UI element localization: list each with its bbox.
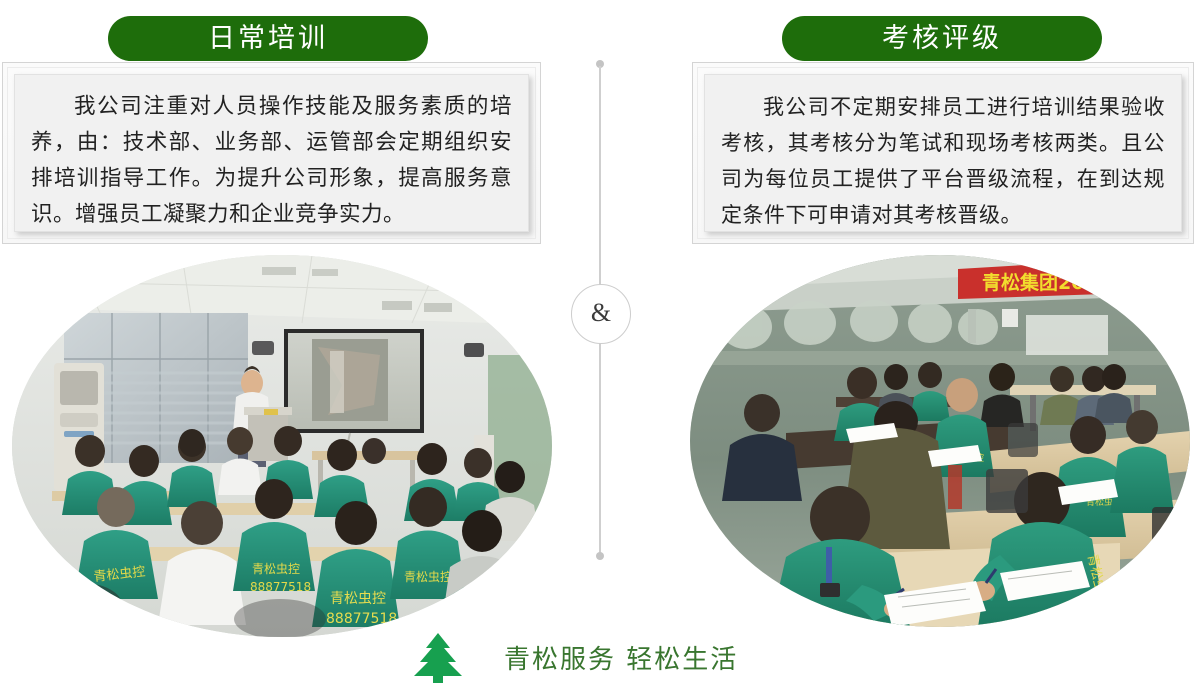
svg-text:88877518: 88877518 bbox=[250, 580, 311, 594]
svg-text:88877518: 88877518 bbox=[326, 611, 397, 627]
written-exam-illustration: 青松集团20 bbox=[690, 255, 1190, 627]
photo-written-exam: 青松集团20 bbox=[690, 255, 1190, 627]
divider-dot-bottom-icon bbox=[596, 552, 604, 560]
ampersand-badge: & bbox=[571, 284, 631, 344]
daily-training-description: 我公司注重对人员操作技能及服务素质的培养，由：技术部、业务部、运管部会定期组织安… bbox=[31, 89, 512, 233]
svg-text:青松虫控: 青松虫控 bbox=[404, 570, 452, 584]
footer-brand: 青松服务 轻松生活 bbox=[410, 628, 790, 686]
text-panel-inner: 我公司不定期安排员工进行培训结果验收考核，其考核分为笔试和现场考核两类。且公司为… bbox=[704, 74, 1182, 232]
footer-slogan: 青松服务 轻松生活 bbox=[504, 639, 738, 676]
text-panel-assessment-grading: 我公司不定期安排员工进行培训结果验收考核，其考核分为笔试和现场考核两类。且公司为… bbox=[692, 62, 1194, 244]
svg-text:青松集团20: 青松集团20 bbox=[982, 271, 1084, 294]
poster-stage: 日常培训 考核评级 我公司注重对人员操作技能及服务素质的培养，由：技术部、业务部… bbox=[0, 0, 1200, 697]
assessment-grading-description: 我公司不定期安排员工进行培训结果验收考核，其考核分为笔试和现场考核两类。且公司为… bbox=[721, 89, 1165, 233]
svg-text:青松虫控: 青松虫控 bbox=[252, 562, 300, 576]
section-title-daily-training: 日常培训 bbox=[108, 16, 428, 61]
classroom-training-illustration: 青松虫控 青松虫控 88877518 青松虫控 88877518 bbox=[12, 255, 552, 637]
section-title-assessment-grading: 考核评级 bbox=[782, 16, 1102, 61]
text-panel-inner: 我公司注重对人员操作技能及服务素质的培养，由：技术部、业务部、运管部会定期组织安… bbox=[14, 74, 529, 232]
text-panel-daily-training: 我公司注重对人员操作技能及服务素质的培养，由：技术部、业务部、运管部会定期组织安… bbox=[2, 62, 541, 244]
pine-tree-icon bbox=[410, 631, 466, 683]
svg-text:青松虫控: 青松虫控 bbox=[330, 591, 386, 607]
photo-classroom-training: 青松虫控 青松虫控 88877518 青松虫控 88877518 bbox=[12, 255, 552, 637]
